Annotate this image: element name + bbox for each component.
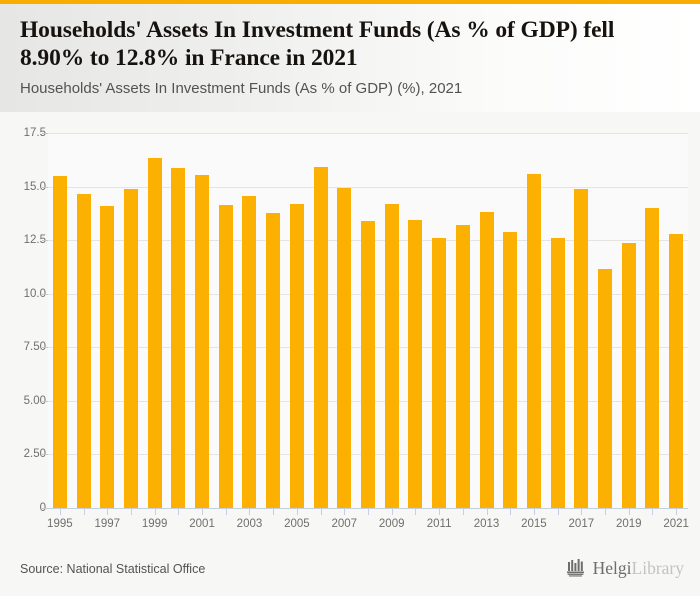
logo-wordmark: HelgiLibrary xyxy=(593,558,684,578)
bar[interactable] xyxy=(408,220,422,508)
y-axis-tick-label: 2.50 xyxy=(0,448,46,460)
bar[interactable] xyxy=(456,225,470,508)
bar[interactable] xyxy=(77,194,91,508)
x-axis-tick-mark xyxy=(534,508,535,515)
page-title: Households' Assets In Investment Funds (… xyxy=(20,16,680,72)
x-axis-tick-mark xyxy=(368,508,369,515)
x-axis-tick-mark xyxy=(84,508,85,515)
x-axis: 1995199719992001200320052007200920112013… xyxy=(48,508,688,544)
x-axis-tick-mark xyxy=(392,508,393,515)
y-axis-tick-mark xyxy=(42,294,48,295)
x-axis-tick-mark xyxy=(652,508,653,515)
y-axis-tick-mark xyxy=(42,401,48,402)
x-axis-tick-label: 2005 xyxy=(273,518,321,530)
x-axis-tick-label: 2017 xyxy=(557,518,605,530)
x-axis-tick-mark xyxy=(297,508,298,515)
x-axis-tick-mark xyxy=(60,508,61,515)
bar[interactable] xyxy=(242,196,256,508)
bar[interactable] xyxy=(290,204,304,508)
chart-panel: 02.505.007.5010.012.515.017.5 1995199719… xyxy=(0,112,700,545)
x-axis-tick-label: 2009 xyxy=(368,518,416,530)
y-axis-tick-label: 5.00 xyxy=(0,395,46,407)
x-axis-tick-mark xyxy=(487,508,488,515)
bar[interactable] xyxy=(551,238,565,508)
x-axis-tick-label: 1997 xyxy=(83,518,131,530)
x-axis-tick-label: 1999 xyxy=(131,518,179,530)
x-axis-tick-label: 2015 xyxy=(510,518,558,530)
y-axis-tick-label: 10.0 xyxy=(0,288,46,300)
bar[interactable] xyxy=(503,232,517,508)
x-axis-tick-label: 2001 xyxy=(178,518,226,530)
x-axis-tick-mark xyxy=(273,508,274,515)
bar-series xyxy=(48,133,688,508)
logo-text-helgi: Helgi xyxy=(593,558,632,578)
bar[interactable] xyxy=(527,174,541,508)
bar[interactable] xyxy=(53,176,67,508)
bar[interactable] xyxy=(645,208,659,508)
y-axis-tick-label: 7.50 xyxy=(0,341,46,353)
bar[interactable] xyxy=(480,212,494,508)
x-axis-tick-label: 2021 xyxy=(652,518,700,530)
x-axis-tick-mark xyxy=(629,508,630,515)
bar[interactable] xyxy=(266,213,280,508)
x-axis-tick-label: 2007 xyxy=(320,518,368,530)
x-axis-tick-mark xyxy=(581,508,582,515)
bar[interactable] xyxy=(219,205,233,508)
x-axis-tick-mark xyxy=(178,508,179,515)
chart-footer: Source: National Statistical Office Helg… xyxy=(0,545,700,596)
x-axis-tick-mark xyxy=(107,508,108,515)
logo-text-library: Library xyxy=(632,558,684,578)
bar[interactable] xyxy=(432,238,446,508)
bar[interactable] xyxy=(148,158,162,508)
y-axis-tick-mark xyxy=(42,187,48,188)
x-axis-tick-label: 2019 xyxy=(605,518,653,530)
y-axis-tick-mark xyxy=(42,133,48,134)
bar[interactable] xyxy=(361,221,375,508)
x-axis-tick-mark xyxy=(510,508,511,515)
y-axis-tick-label: 0 xyxy=(0,502,46,514)
library-building-icon xyxy=(566,558,588,578)
y-axis-tick-label: 17.5 xyxy=(0,127,46,139)
chart-header: Households' Assets In Investment Funds (… xyxy=(0,4,700,112)
plot-area xyxy=(48,133,688,509)
bar[interactable] xyxy=(100,206,114,508)
chart-subtitle: Households' Assets In Investment Funds (… xyxy=(20,80,680,98)
x-axis-tick-mark xyxy=(202,508,203,515)
bar[interactable] xyxy=(385,204,399,508)
helgi-library-logo[interactable]: HelgiLibrary xyxy=(566,558,684,578)
x-axis-tick-label: 2011 xyxy=(415,518,463,530)
y-axis-tick-mark xyxy=(42,240,48,241)
y-axis-tick-mark xyxy=(42,347,48,348)
bar[interactable] xyxy=(669,234,683,508)
x-axis-tick-mark xyxy=(605,508,606,515)
x-axis-tick-mark xyxy=(676,508,677,515)
y-axis-tick-label: 12.5 xyxy=(0,234,46,246)
x-axis-tick-mark xyxy=(439,508,440,515)
bar[interactable] xyxy=(622,243,636,508)
x-axis-tick-label: 2013 xyxy=(463,518,511,530)
chart-page: Households' Assets In Investment Funds (… xyxy=(0,0,700,596)
y-axis-tick-mark xyxy=(42,454,48,455)
x-axis-tick-label: 2003 xyxy=(225,518,273,530)
x-axis-tick-label: 1995 xyxy=(36,518,84,530)
bar[interactable] xyxy=(314,167,328,508)
x-axis-tick-mark xyxy=(321,508,322,515)
bar[interactable] xyxy=(124,189,138,508)
x-axis-tick-mark xyxy=(249,508,250,515)
bar[interactable] xyxy=(195,175,209,508)
bar[interactable] xyxy=(337,188,351,508)
x-axis-tick-mark xyxy=(463,508,464,515)
x-axis-tick-mark xyxy=(155,508,156,515)
x-axis-tick-mark xyxy=(226,508,227,515)
y-axis-tick-label: 15.0 xyxy=(0,181,46,193)
bar[interactable] xyxy=(171,168,185,508)
x-axis-tick-mark xyxy=(131,508,132,515)
x-axis-tick-mark xyxy=(558,508,559,515)
x-axis-tick-mark xyxy=(344,508,345,515)
bar[interactable] xyxy=(598,269,612,508)
bar[interactable] xyxy=(574,189,588,508)
x-axis-tick-mark xyxy=(415,508,416,515)
source-note: Source: National Statistical Office xyxy=(20,562,205,576)
